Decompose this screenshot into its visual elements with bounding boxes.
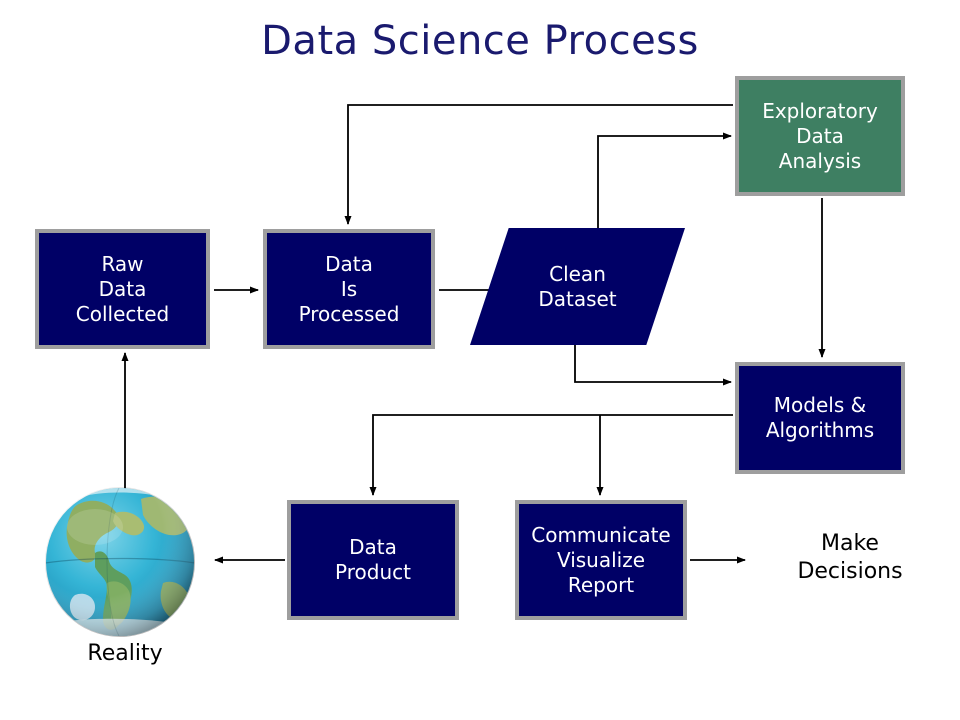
node-label: Exploratory Data Analysis: [762, 99, 878, 174]
node-communicate-visualize-report[interactable]: Communicate Visualize Report: [515, 500, 687, 620]
node-raw-data-collected[interactable]: Raw Data Collected: [35, 229, 210, 349]
connector-clean-to-models: [575, 345, 731, 382]
connector-eda-to-processed: [348, 105, 733, 224]
make-decisions-label: Make Decisions: [760, 530, 940, 585]
node-label: Communicate Visualize Report: [531, 523, 670, 598]
reality-label: Reality: [70, 640, 180, 668]
globe-icon: [45, 487, 195, 637]
node-label: Clean Dataset: [470, 228, 685, 345]
node-label: Models & Algorithms: [766, 393, 874, 443]
node-models-and-algorithms[interactable]: Models & Algorithms: [735, 362, 905, 474]
connector-models-to-data-product: [373, 415, 733, 495]
globe-earth-graphic: [45, 487, 195, 637]
diagram-canvas: Data Science Process Raw Data CollectedD…: [0, 0, 960, 720]
node-data-is-processed[interactable]: Data Is Processed: [263, 229, 435, 349]
node-clean-dataset[interactable]: Clean Dataset: [470, 228, 685, 345]
node-label: Raw Data Collected: [76, 252, 169, 327]
node-label: Data Product: [335, 535, 411, 585]
node-label: Data Is Processed: [299, 252, 400, 327]
node-exploratory-data-analysis[interactable]: Exploratory Data Analysis: [735, 76, 905, 196]
node-data-product[interactable]: Data Product: [287, 500, 459, 620]
connector-clean-to-eda: [598, 136, 731, 230]
